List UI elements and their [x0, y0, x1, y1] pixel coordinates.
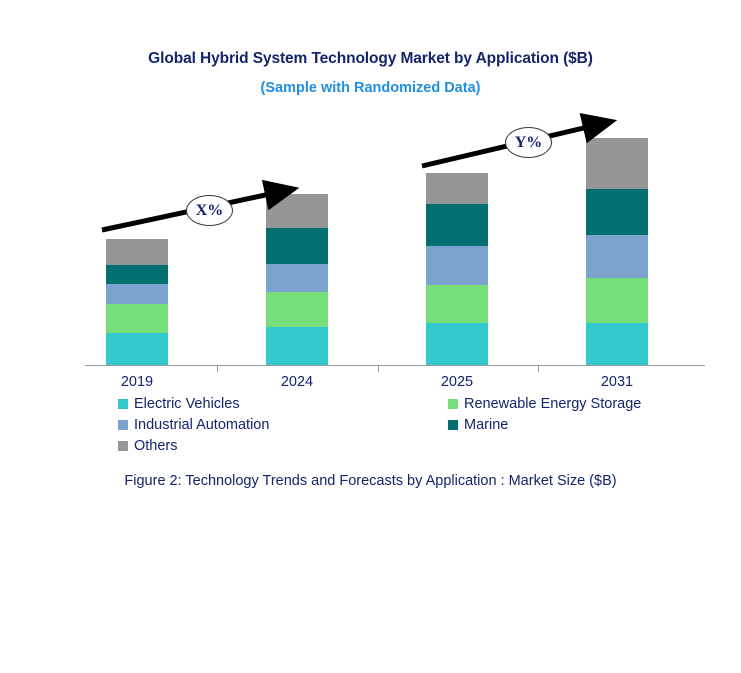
bar-segment-marine [266, 228, 328, 264]
bar-segment-industrial-automation [426, 246, 488, 285]
legend-swatch-icon [448, 399, 458, 409]
bar-segment-others [106, 239, 168, 265]
bar-segment-others [266, 194, 328, 228]
legend-row: Electric Vehicles Renewable Energy Stora… [118, 396, 688, 417]
x-axis-label-2024: 2024 [222, 374, 372, 390]
bar-segment-electric-vehicles [266, 327, 328, 366]
bar-segment-others [586, 138, 648, 189]
x-axis-line [85, 365, 705, 366]
legend-swatch-icon [118, 399, 128, 409]
bar-segment-renewable-energy-storage [586, 278, 648, 323]
stacked-bar-2031 [586, 138, 648, 366]
bar-segment-industrial-automation [586, 235, 648, 278]
legend-swatch-icon [118, 420, 128, 430]
figure-caption: Figure 2: Technology Trends and Forecast… [0, 473, 741, 489]
bar-segment-industrial-automation [266, 264, 328, 292]
x-axis-tick [217, 366, 218, 372]
bar-segment-marine [106, 265, 168, 284]
legend-row: Others [118, 438, 688, 459]
legend-item-label: Marine [464, 417, 508, 433]
chart-title: Global Hybrid System Technology Market b… [0, 50, 741, 68]
x-axis-label-2025: 2025 [382, 374, 532, 390]
bar-segment-electric-vehicles [426, 323, 488, 366]
plot-area [85, 120, 705, 366]
bar-segment-electric-vehicles [106, 333, 168, 366]
legend-swatch-icon [448, 420, 458, 430]
bar-segment-renewable-energy-storage [426, 285, 488, 323]
legend-item-electric-vehicles[interactable]: Electric Vehicles [118, 396, 240, 412]
growth-callout-y-label: Y% [515, 134, 543, 152]
legend-item-label: Electric Vehicles [134, 396, 240, 412]
stacked-bar-2019 [106, 239, 168, 366]
bar-segment-renewable-energy-storage [106, 304, 168, 333]
legend-item-others[interactable]: Others [118, 438, 178, 454]
legend-item-label: Renewable Energy Storage [464, 396, 641, 412]
growth-callout-y: Y% [505, 127, 552, 158]
stacked-bar-2025 [426, 173, 488, 366]
growth-callout-x-label: X% [196, 202, 224, 220]
legend-item-label: Industrial Automation [134, 417, 269, 433]
x-axis-label-2031: 2031 [542, 374, 692, 390]
bar-segment-industrial-automation [106, 284, 168, 304]
bar-segment-others [426, 173, 488, 204]
chart-subtitle: (Sample with Randomized Data) [0, 80, 741, 96]
legend-row: Industrial Automation Marine [118, 417, 688, 438]
chart-figure: Global Hybrid System Technology Market b… [0, 0, 741, 673]
legend-item-renewable-energy-storage[interactable]: Renewable Energy Storage [448, 396, 641, 412]
x-axis-tick [378, 366, 379, 372]
bar-segment-electric-vehicles [586, 323, 648, 366]
x-axis-tick [538, 366, 539, 372]
bar-segment-marine [426, 204, 488, 246]
bar-segment-marine [586, 189, 648, 235]
legend-item-industrial-automation[interactable]: Industrial Automation [118, 417, 269, 433]
legend-swatch-icon [118, 441, 128, 451]
stacked-bar-2024 [266, 194, 328, 366]
legend-item-label: Others [134, 438, 178, 454]
growth-callout-x: X% [186, 195, 233, 226]
x-axis-label-2019: 2019 [62, 374, 212, 390]
chart-legend: Electric Vehicles Renewable Energy Stora… [118, 396, 688, 459]
legend-item-marine[interactable]: Marine [448, 417, 508, 433]
bar-segment-renewable-energy-storage [266, 292, 328, 327]
